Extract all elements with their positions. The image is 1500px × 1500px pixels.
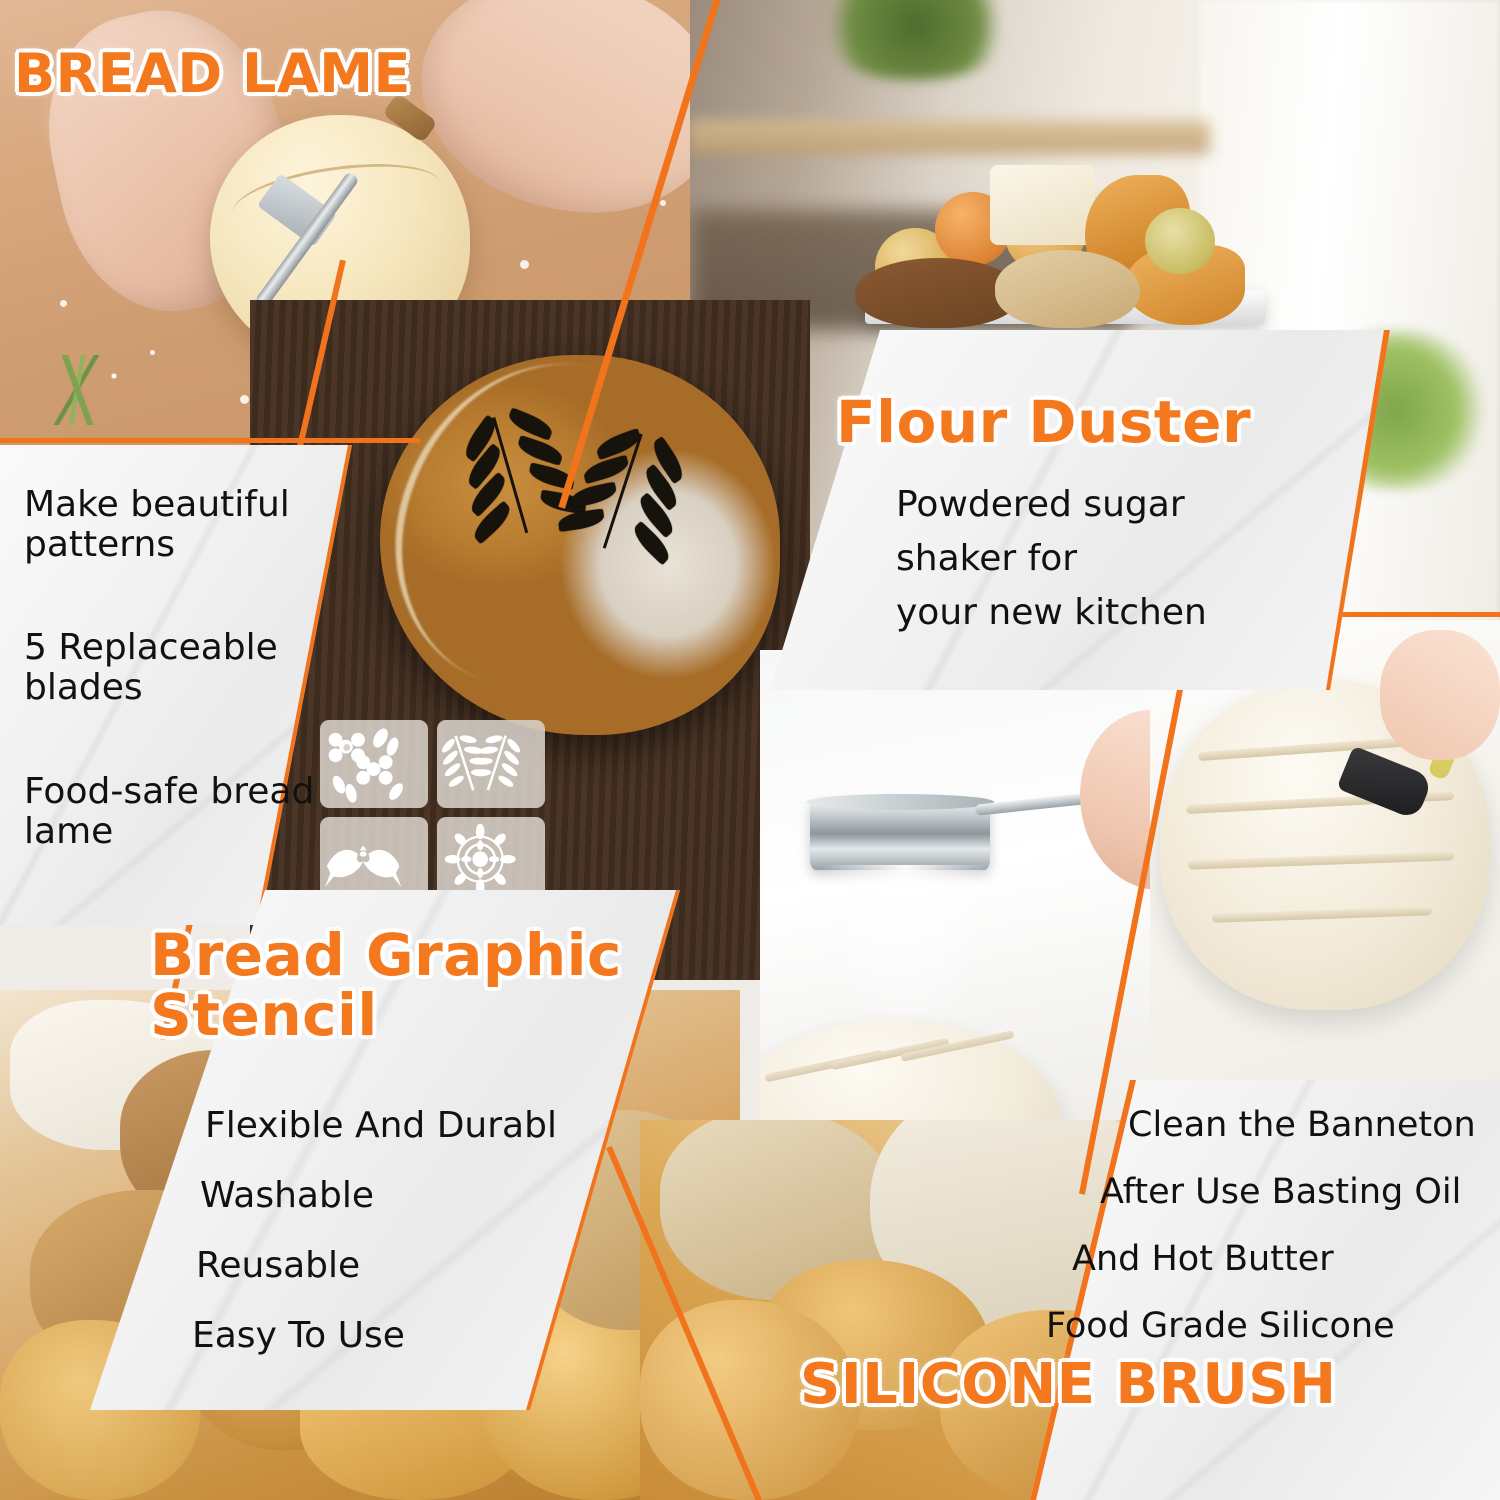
plant-left xyxy=(810,0,1020,80)
bullet-lame-1: Make beautiful patterns xyxy=(24,485,324,566)
hand-holding-brush xyxy=(1380,630,1500,760)
bullet-stencil-4: Easy To Use xyxy=(192,1315,405,1356)
rosemary-sprig xyxy=(10,355,150,425)
bullet-stencil-2: Washable xyxy=(200,1175,374,1216)
title-bread-lame: BREAD LAME xyxy=(14,42,411,105)
stencil-card-wheat xyxy=(437,720,545,808)
bullet-duster-3: your new kitchen xyxy=(896,591,1207,634)
herb-roll xyxy=(1145,208,1215,274)
title-flour-duster: Flour Duster xyxy=(836,388,1251,456)
bullet-stencil-1: Flexible And Durabl xyxy=(205,1105,557,1146)
bullet-brush-1: Clean the Banneton xyxy=(1128,1105,1476,1145)
flour-sifter-cup xyxy=(810,800,990,870)
bullet-lame-2: 5 Replaceable blades xyxy=(24,628,324,709)
bullet-stencil-3: Reusable xyxy=(196,1245,360,1286)
flowers-stencil-icon xyxy=(320,720,428,808)
divider-lame-bottom xyxy=(0,438,420,443)
title-silicone-brush: SILICONE BRUSH xyxy=(800,1352,1336,1417)
bullet-lame-3: Food-safe bread lame xyxy=(24,772,324,853)
bullet-brush-4: Food Grade Silicone xyxy=(1046,1306,1395,1346)
photo-brushing-dough-with-silicone-brush xyxy=(1150,620,1500,1140)
wheat-stencil-icon xyxy=(437,720,545,808)
bullet-brush-3: And Hot Butter xyxy=(1072,1239,1334,1279)
bullet-duster-1: Powdered sugar xyxy=(896,483,1185,526)
title-bread-graphic-stencil: Bread Graphic Stencil xyxy=(150,925,630,1046)
white-loaf xyxy=(995,250,1140,328)
photo-stencilled-sourdough-loaf xyxy=(250,300,810,980)
bullet-brush-2: After Use Basting Oil xyxy=(1100,1172,1461,1212)
sliced-bread xyxy=(990,165,1095,245)
stencil-card-flowers xyxy=(320,720,428,808)
product-infographic: BREAD LAME Make beautiful patterns 5 Rep… xyxy=(0,0,1500,1500)
kitchen-shelf xyxy=(690,120,1210,154)
stencil-sample-grid xyxy=(320,720,545,905)
bullet-duster-2: shaker for xyxy=(896,537,1077,580)
